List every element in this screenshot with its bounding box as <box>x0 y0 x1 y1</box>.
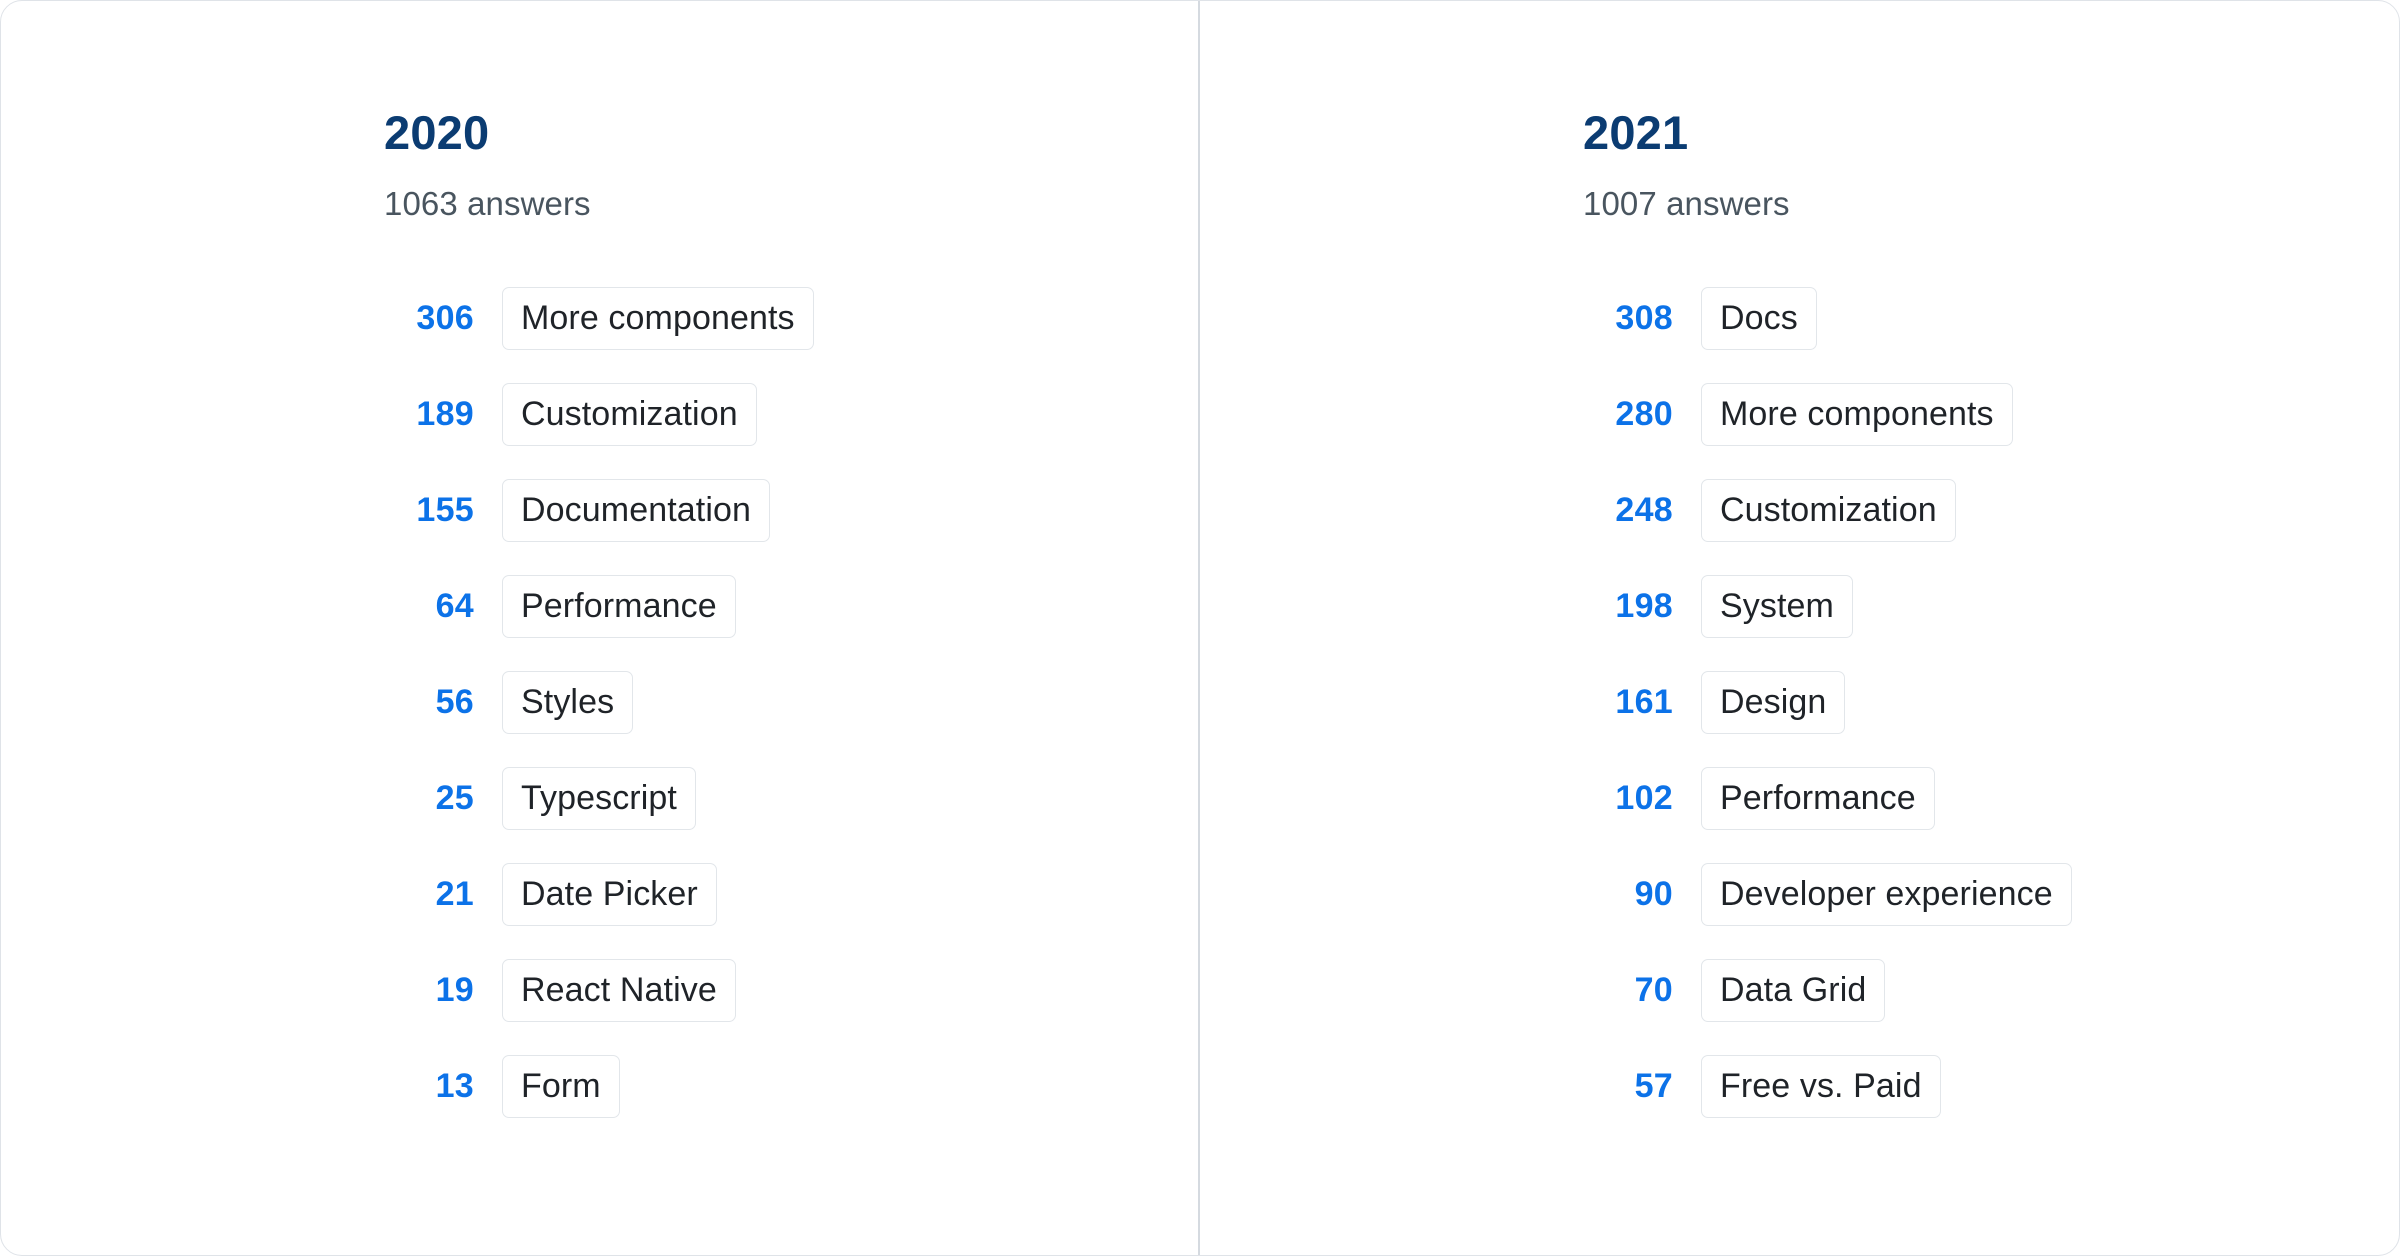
year-column-2021: 2021 1007 answers 308 Docs 280 More comp… <box>1200 1 2399 1255</box>
list-item[interactable]: 19 React Native <box>384 942 1198 1038</box>
item-count: 280 <box>1583 397 1673 431</box>
item-label-chip[interactable]: Performance <box>1701 767 1935 830</box>
year-heading-2021: 2021 <box>1583 109 2399 156</box>
list-item[interactable]: 90 Developer experience <box>1583 846 2399 942</box>
item-label-chip[interactable]: System <box>1701 575 1853 638</box>
year-heading-2020: 2020 <box>384 109 1198 156</box>
list-item[interactable]: 198 System <box>1583 558 2399 654</box>
item-count: 198 <box>1583 589 1673 623</box>
list-item[interactable]: 13 Form <box>384 1038 1198 1134</box>
item-count: 308 <box>1583 301 1673 335</box>
item-count: 64 <box>384 589 474 623</box>
item-label-chip[interactable]: More components <box>1701 383 2013 446</box>
item-label-chip[interactable]: Performance <box>502 575 736 638</box>
item-label-chip[interactable]: Free vs. Paid <box>1701 1055 1941 1118</box>
list-item[interactable]: 189 Customization <box>384 366 1198 462</box>
item-label-chip[interactable]: Customization <box>1701 479 1956 542</box>
ranked-list-2020: 306 More components 189 Customization 15… <box>384 270 1198 1134</box>
item-count: 90 <box>1583 877 1673 911</box>
list-item[interactable]: 248 Customization <box>1583 462 2399 558</box>
list-item[interactable]: 64 Performance <box>384 558 1198 654</box>
ranked-list-2021: 308 Docs 280 More components 248 Customi… <box>1583 270 2399 1134</box>
item-label-chip[interactable]: Customization <box>502 383 757 446</box>
item-label-chip[interactable]: Design <box>1701 671 1845 734</box>
list-item[interactable]: 25 Typescript <box>384 750 1198 846</box>
list-item[interactable]: 70 Data Grid <box>1583 942 2399 1038</box>
item-label-chip[interactable]: Form <box>502 1055 620 1118</box>
comparison-panel: 2020 1063 answers 306 More components 18… <box>0 0 2400 1256</box>
item-label-chip[interactable]: Developer experience <box>1701 863 2072 926</box>
list-item[interactable]: 161 Design <box>1583 654 2399 750</box>
item-count: 155 <box>384 493 474 527</box>
item-label-chip[interactable]: Documentation <box>502 479 770 542</box>
list-item[interactable]: 57 Free vs. Paid <box>1583 1038 2399 1134</box>
item-count: 19 <box>384 973 474 1007</box>
item-count: 248 <box>1583 493 1673 527</box>
list-item[interactable]: 56 Styles <box>384 654 1198 750</box>
list-item[interactable]: 308 Docs <box>1583 270 2399 366</box>
answers-count-2020: 1063 answers <box>384 187 1198 220</box>
list-item[interactable]: 21 Date Picker <box>384 846 1198 942</box>
item-count: 25 <box>384 781 474 815</box>
item-count: 56 <box>384 685 474 719</box>
answers-count-2021: 1007 answers <box>1583 187 2399 220</box>
item-label-chip[interactable]: React Native <box>502 959 736 1022</box>
item-count: 102 <box>1583 781 1673 815</box>
item-count: 57 <box>1583 1069 1673 1103</box>
item-count: 70 <box>1583 973 1673 1007</box>
list-item[interactable]: 102 Performance <box>1583 750 2399 846</box>
item-label-chip[interactable]: Docs <box>1701 287 1817 350</box>
item-label-chip[interactable]: Data Grid <box>1701 959 1885 1022</box>
list-item[interactable]: 306 More components <box>384 270 1198 366</box>
item-label-chip[interactable]: Typescript <box>502 767 696 830</box>
item-count: 21 <box>384 877 474 911</box>
item-label-chip[interactable]: Date Picker <box>502 863 717 926</box>
item-label-chip[interactable]: Styles <box>502 671 633 734</box>
item-count: 306 <box>384 301 474 335</box>
item-count: 13 <box>384 1069 474 1103</box>
item-count: 161 <box>1583 685 1673 719</box>
item-count: 189 <box>384 397 474 431</box>
list-item[interactable]: 280 More components <box>1583 366 2399 462</box>
item-label-chip[interactable]: More components <box>502 287 814 350</box>
year-column-2020: 2020 1063 answers 306 More components 18… <box>1 1 1200 1255</box>
list-item[interactable]: 155 Documentation <box>384 462 1198 558</box>
